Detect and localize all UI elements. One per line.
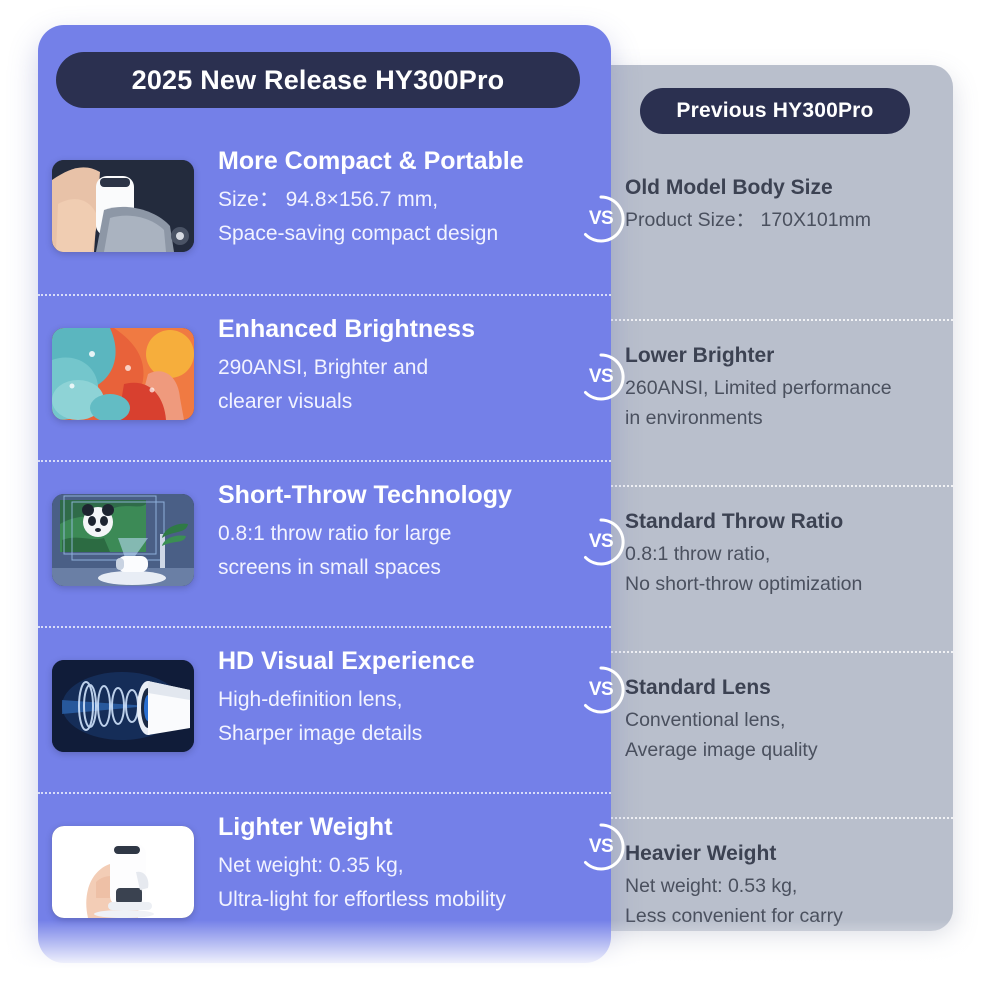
previous-feature-title: Heavier Weight: [625, 841, 953, 867]
new-release-header: 2025 New Release HY300Pro: [56, 52, 580, 108]
previous-feature-row: Old Model Body Size Product Size： 170X10…: [588, 153, 953, 319]
new-feature-line: Ultra-light for effortless mobility: [218, 883, 578, 917]
previous-feature-line: Conventional lens,: [625, 705, 953, 735]
new-release-panel: 2025 New Release HY300Pro: [38, 25, 611, 963]
previous-feature-title: Standard Lens: [625, 675, 953, 701]
new-feature-line: 0.8:1 throw ratio for large: [218, 517, 578, 551]
vs-badge: VS: [576, 665, 626, 715]
new-feature-row: Lighter Weight Net weight: 0.35 kg, Ultr…: [38, 792, 611, 958]
vs-badge-label: VS: [576, 822, 626, 872]
new-feature-line: clearer visuals: [218, 385, 578, 419]
previous-feature-row: Lower Brighter 260ANSI, Limited performa…: [588, 319, 953, 485]
previous-feature-line: No short-throw optimization: [625, 569, 953, 599]
previous-feature-row: Standard Throw Ratio 0.8:1 throw ratio, …: [588, 485, 953, 651]
vs-badge-label: VS: [576, 352, 626, 402]
new-feature-title: More Compact & Portable: [218, 146, 578, 177]
new-feature-line: High-definition lens,: [218, 683, 578, 717]
previous-feature-title: Standard Throw Ratio: [625, 509, 953, 535]
vs-badge: VS: [576, 822, 626, 872]
vs-badge: VS: [576, 194, 626, 244]
new-feature-title: Short-Throw Technology: [218, 480, 578, 511]
previous-feature-line: 260ANSI, Limited performance: [625, 373, 953, 403]
new-feature-row: HD Visual Experience High-definition len…: [38, 626, 611, 792]
previous-feature-title: Lower Brighter: [625, 343, 953, 369]
lens-exploded-view-photo: [52, 660, 194, 752]
new-feature-line: screens in small spaces: [218, 551, 578, 585]
previous-feature-line: Net weight: 0.53 kg,: [625, 871, 953, 901]
new-feature-line: Net weight: 0.35 kg,: [218, 849, 578, 883]
new-feature-line: Space-saving compact design: [218, 217, 578, 251]
new-feature-title: Lighter Weight: [218, 812, 578, 843]
previous-feature-line: Less convenient for carry: [625, 901, 953, 931]
hand-holding-projector-photo: [52, 826, 194, 918]
vs-badge: VS: [576, 352, 626, 402]
new-release-feature-list: More Compact & Portable Size： 94.8×156.7…: [38, 128, 611, 958]
previous-feature-line: 0.8:1 throw ratio,: [625, 539, 953, 569]
new-feature-title: Enhanced Brightness: [218, 314, 578, 345]
previous-feature-line: Average image quality: [625, 735, 953, 765]
new-feature-line: Sharper image details: [218, 717, 578, 751]
previous-feature-title: Old Model Body Size: [625, 175, 953, 201]
previous-feature-line: in environments: [625, 403, 953, 433]
panda-projection-photo: [52, 494, 194, 586]
previous-feature-line: Product Size： 170X101mm: [625, 205, 953, 235]
projector-in-bag-photo: [52, 160, 194, 252]
previous-model-panel: Previous HY300Pro Old Model Body Size Pr…: [588, 65, 953, 931]
previous-feature-row: Standard Lens Conventional lens, Average…: [588, 651, 953, 817]
new-feature-row: Enhanced Brightness 290ANSI, Brighter an…: [38, 294, 611, 460]
new-feature-row: Short-Throw Technology 0.8:1 throw ratio…: [38, 460, 611, 626]
comparison-board: Previous HY300Pro Old Model Body Size Pr…: [0, 0, 990, 990]
new-feature-title: HD Visual Experience: [218, 646, 578, 677]
new-feature-row: More Compact & Portable Size： 94.8×156.7…: [38, 128, 611, 294]
new-feature-line: 290ANSI, Brighter and: [218, 351, 578, 385]
vs-badge: VS: [576, 517, 626, 567]
vs-badge-label: VS: [576, 517, 626, 567]
previous-feature-row: Heavier Weight Net weight: 0.53 kg, Less…: [588, 817, 953, 983]
vs-badge-label: VS: [576, 665, 626, 715]
colorful-flowers-photo: [52, 328, 194, 420]
previous-model-header: Previous HY300Pro: [640, 88, 910, 134]
previous-model-feature-list: Old Model Body Size Product Size： 170X10…: [588, 153, 953, 983]
vs-badge-label: VS: [576, 194, 626, 244]
new-feature-line: Size： 94.8×156.7 mm,: [218, 183, 578, 217]
